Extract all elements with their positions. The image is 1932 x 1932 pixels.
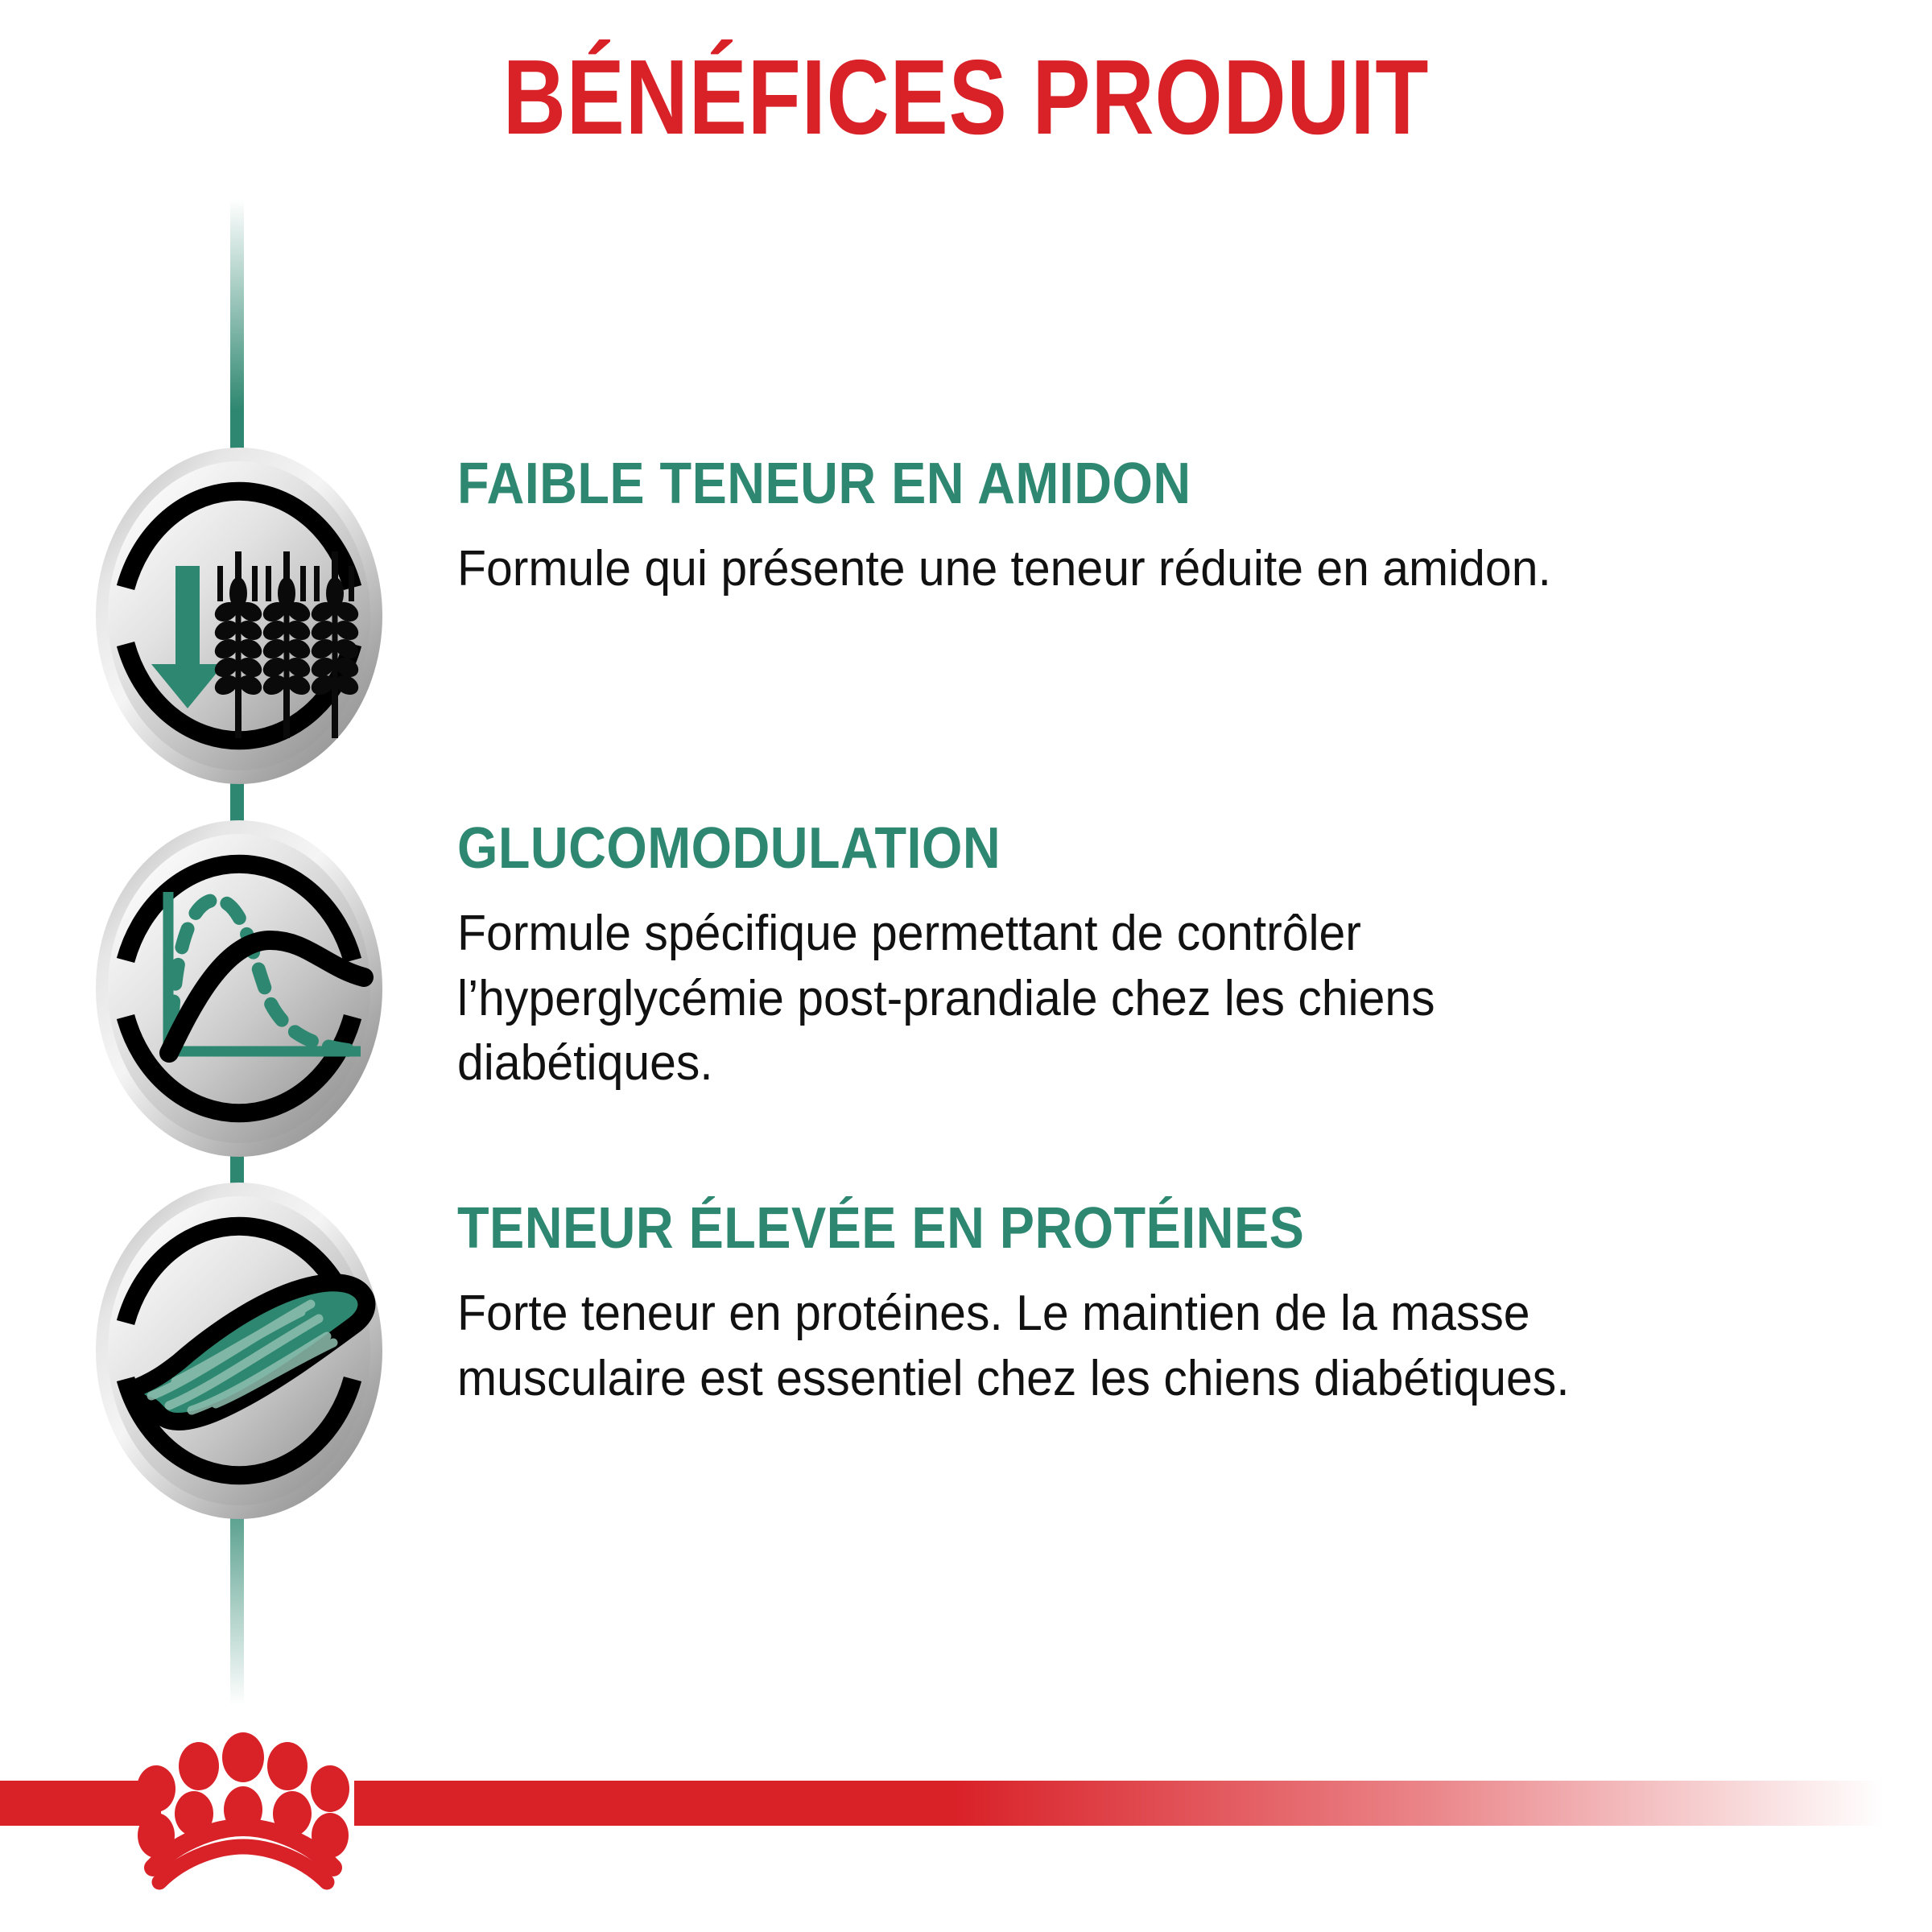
benefit-body: Forte teneur en protéines. Le maintien d…: [457, 1282, 1711, 1411]
benefit-item-high-protein: TENEUR ÉLEVÉE EN PROTÉINES Forte teneur …: [0, 1182, 1932, 1528]
benefit-text-glucomodulation: GLUCOMODULATION Formule spécifique perme…: [457, 819, 1777, 1096]
royal-canin-crown-logo: [135, 1731, 351, 1892]
benefit-text-high-protein: TENEUR ÉLEVÉE EN PROTÉINES Forte teneur …: [457, 1199, 1777, 1411]
benefit-body: Formule spécifique permettant de contrôl…: [457, 902, 1589, 1096]
benefit-title: TENEUR ÉLEVÉE EN PROTÉINES: [457, 1199, 1645, 1257]
high-protein-icon: [95, 1182, 383, 1520]
footer: [0, 1723, 1932, 1932]
benefit-title: GLUCOMODULATION: [457, 819, 1645, 877]
benefit-title: FAIBLE TENEUR EN AMIDON: [457, 455, 1645, 513]
benefit-item-glucomodulation: GLUCOMODULATION Formule spécifique perme…: [0, 819, 1932, 1166]
low-starch-icon: [95, 447, 383, 785]
glucomodulation-icon: [95, 819, 383, 1158]
benefit-item-low-starch: FAIBLE TENEUR EN AMIDON Formule qui prés…: [0, 447, 1932, 793]
benefit-body: Formule qui présente une teneur réduite …: [457, 537, 1711, 602]
footer-bar-right: [354, 1781, 1932, 1826]
page-title: BÉNÉFICES PRODUIT: [174, 39, 1758, 155]
benefit-text-low-starch: FAIBLE TENEUR EN AMIDON Formule qui prés…: [457, 455, 1777, 602]
